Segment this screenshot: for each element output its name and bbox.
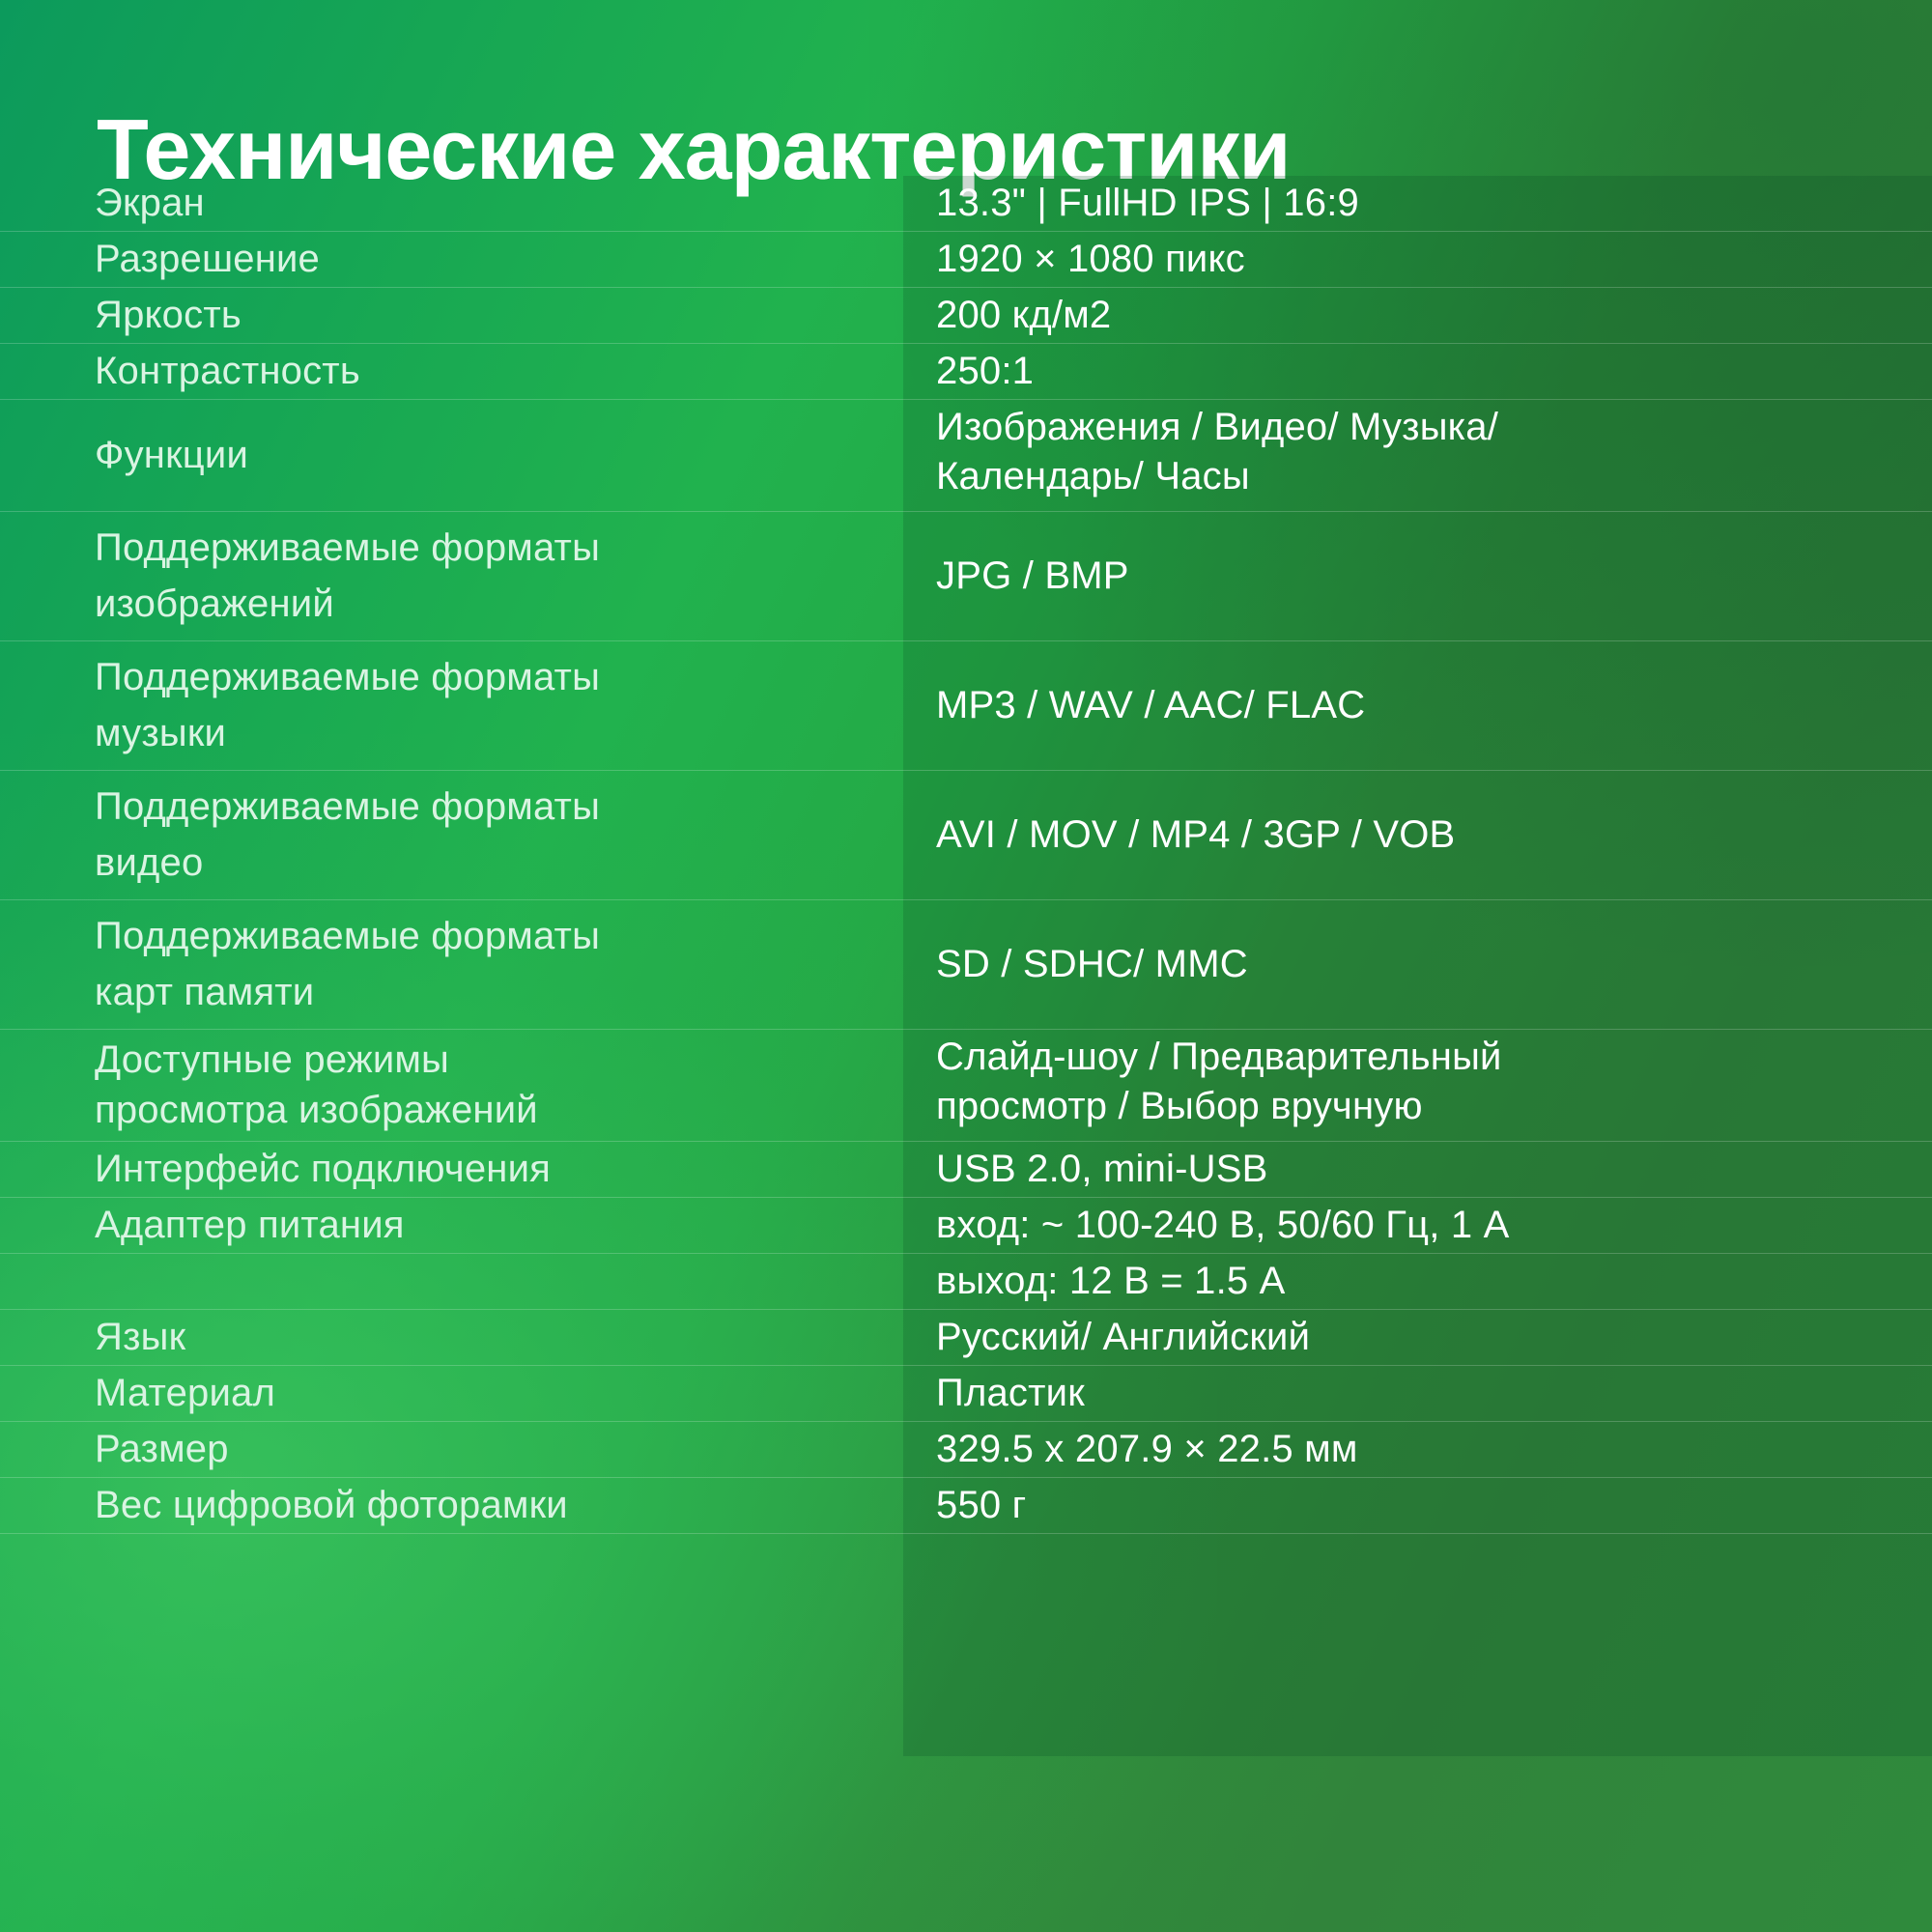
- spec-label-line: Язык: [95, 1313, 903, 1362]
- spec-label-line: Поддерживаемые форматы: [95, 524, 903, 573]
- spec-label-line: Яркость: [95, 291, 903, 340]
- spec-label-line: Вес цифровой фоторамки: [95, 1481, 903, 1530]
- spec-label-line: изображений: [95, 580, 903, 629]
- spec-row: Доступные режимыпросмотра изображенийСла…: [0, 1030, 1932, 1142]
- spec-label-line: Поддерживаемые форматы: [95, 782, 903, 832]
- spec-value-line: Русский/ Английский: [936, 1313, 1909, 1362]
- spec-label-line: Функции: [95, 431, 903, 480]
- spec-value: Пластик: [903, 1366, 1932, 1421]
- spec-label: Размер: [0, 1422, 903, 1477]
- spec-value-line: 329.5 x 207.9 × 22.5 мм: [936, 1425, 1909, 1474]
- spec-label: Адаптер питания: [0, 1198, 903, 1253]
- spec-label-line: Адаптер питания: [95, 1201, 903, 1250]
- spec-row: ФункцииИзображения / Видео/ Музыка/Кален…: [0, 400, 1932, 512]
- spec-label-line: Материал: [95, 1369, 903, 1418]
- spec-label: Поддерживаемые форматыизображений: [0, 512, 903, 640]
- spec-value-line: SD / SDHC/ MMC: [936, 940, 1909, 989]
- spec-row: Поддерживаемые форматымузыкиMP3 / WAV / …: [0, 641, 1932, 771]
- spec-value-line: 200 кд/м2: [936, 291, 1909, 340]
- table-bottom-spacer: [0, 1534, 1932, 1590]
- spec-value-line: 250:1: [936, 347, 1909, 396]
- spec-value: AVI / MOV / MP4 / 3GP / VOB: [903, 771, 1932, 899]
- spec-label-line: Доступные режимы: [95, 1036, 903, 1085]
- spec-label: Доступные режимыпросмотра изображений: [0, 1030, 903, 1141]
- spec-label-line: Контрастность: [95, 347, 903, 396]
- spec-value: 250:1: [903, 344, 1932, 399]
- spec-row: Поддерживаемые форматывидеоAVI / MOV / M…: [0, 771, 1932, 900]
- spec-label: [0, 1254, 903, 1309]
- spec-value: Русский/ Английский: [903, 1310, 1932, 1365]
- spec-value-line: Пластик: [936, 1369, 1909, 1418]
- spec-value-line: USB 2.0, mini-USB: [936, 1145, 1909, 1194]
- spec-row: Экран13.3" | FullHD IPS | 16:9: [0, 176, 1932, 232]
- spec-value-line: просмотр / Выбор вручную: [936, 1082, 1909, 1131]
- spec-value-line: 550 г: [936, 1481, 1909, 1530]
- spec-row: Интерфейс подключенияUSB 2.0, mini-USB: [0, 1142, 1932, 1198]
- spec-label: Вес цифровой фоторамки: [0, 1478, 903, 1533]
- spec-label: Поддерживаемые форматывидео: [0, 771, 903, 899]
- spec-value-line: 1920 × 1080 пикс: [936, 235, 1909, 284]
- spec-row: Адаптер питаниявход: ~ 100-240 В, 50/60 …: [0, 1198, 1932, 1254]
- spec-value: 1920 × 1080 пикс: [903, 232, 1932, 287]
- spec-value: вход: ~ 100-240 В, 50/60 Гц, 1 А: [903, 1198, 1932, 1253]
- spec-row: Поддерживаемые форматыизображенийJPG / B…: [0, 512, 1932, 641]
- spec-row: Разрешение1920 × 1080 пикс: [0, 232, 1932, 288]
- spec-value-line: AVI / MOV / MP4 / 3GP / VOB: [936, 810, 1909, 860]
- spec-value-line: выход: 12 В = 1.5 А: [936, 1257, 1909, 1306]
- spec-row: МатериалПластик: [0, 1366, 1932, 1422]
- spec-value-line: Слайд-шоу / Предварительный: [936, 1033, 1909, 1082]
- spec-label-line: Экран: [95, 179, 903, 228]
- spec-label: Яркость: [0, 288, 903, 343]
- spec-value: 329.5 x 207.9 × 22.5 мм: [903, 1422, 1932, 1477]
- spec-row: Поддерживаемые форматыкарт памятиSD / SD…: [0, 900, 1932, 1030]
- spec-value-line: 13.3" | FullHD IPS | 16:9: [936, 179, 1909, 228]
- spec-table: Экран13.3" | FullHD IPS | 16:9Разрешение…: [0, 176, 1932, 1590]
- spec-value: JPG / BMP: [903, 512, 1932, 640]
- spec-label-line: Поддерживаемые форматы: [95, 912, 903, 961]
- spec-row: ЯзыкРусский/ Английский: [0, 1310, 1932, 1366]
- spec-value: SD / SDHC/ MMC: [903, 900, 1932, 1029]
- spec-value: Слайд-шоу / Предварительныйпросмотр / Вы…: [903, 1030, 1932, 1141]
- spec-value-line: Календарь/ Часы: [936, 452, 1909, 501]
- spec-label-line: Размер: [95, 1425, 903, 1474]
- spec-label: Экран: [0, 176, 903, 231]
- spec-value-line: MP3 / WAV / AAC/ FLAC: [936, 681, 1909, 730]
- spec-value: MP3 / WAV / AAC/ FLAC: [903, 641, 1932, 770]
- spec-value: 200 кд/м2: [903, 288, 1932, 343]
- spec-label: Разрешение: [0, 232, 903, 287]
- spec-value-line: JPG / BMP: [936, 552, 1909, 601]
- spec-label: Контрастность: [0, 344, 903, 399]
- spec-value: USB 2.0, mini-USB: [903, 1142, 1932, 1197]
- spec-label-line: Поддерживаемые форматы: [95, 653, 903, 702]
- spec-label-line: видео: [95, 838, 903, 888]
- spec-label: Интерфейс подключения: [0, 1142, 903, 1197]
- spec-row: Контрастность250:1: [0, 344, 1932, 400]
- spec-value-line: вход: ~ 100-240 В, 50/60 Гц, 1 А: [936, 1201, 1909, 1250]
- spec-label-line: просмотра изображений: [95, 1086, 903, 1135]
- spec-value: 550 г: [903, 1478, 1932, 1533]
- spec-value: 13.3" | FullHD IPS | 16:9: [903, 176, 1932, 231]
- spec-label: Поддерживаемые форматымузыки: [0, 641, 903, 770]
- spec-row: Вес цифровой фоторамки550 г: [0, 1478, 1932, 1534]
- spec-sheet-page: Технические характеристики Экран13.3" | …: [0, 0, 1932, 1932]
- spec-row: Яркость200 кд/м2: [0, 288, 1932, 344]
- spec-row: выход: 12 В = 1.5 А: [0, 1254, 1932, 1310]
- spec-value: выход: 12 В = 1.5 А: [903, 1254, 1932, 1309]
- spec-label-line: Интерфейс подключения: [95, 1145, 903, 1194]
- spec-value: Изображения / Видео/ Музыка/Календарь/ Ч…: [903, 400, 1932, 511]
- spec-label-line: карт памяти: [95, 968, 903, 1017]
- spec-row: Размер329.5 x 207.9 × 22.5 мм: [0, 1422, 1932, 1478]
- spec-label-line: музыки: [95, 709, 903, 758]
- spec-label: Язык: [0, 1310, 903, 1365]
- spec-label-line: Разрешение: [95, 235, 903, 284]
- spec-label: Поддерживаемые форматыкарт памяти: [0, 900, 903, 1029]
- spec-value-line: Изображения / Видео/ Музыка/: [936, 403, 1909, 452]
- spec-label: Материал: [0, 1366, 903, 1421]
- spec-label: Функции: [0, 400, 903, 511]
- spec-table-body: Экран13.3" | FullHD IPS | 16:9Разрешение…: [0, 176, 1932, 1534]
